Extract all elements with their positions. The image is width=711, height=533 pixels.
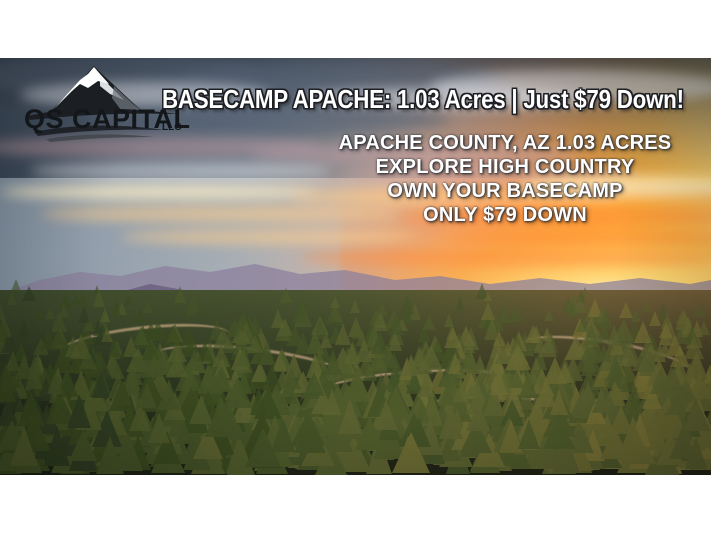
pine-tree	[109, 380, 135, 411]
pine-tree	[458, 349, 480, 373]
pine-tree	[78, 306, 90, 323]
pine-tree	[325, 312, 335, 324]
cloud-streak	[120, 230, 420, 244]
pine-tree	[44, 426, 70, 466]
pine-tree	[100, 307, 110, 322]
pine-tree	[621, 426, 649, 456]
pine-tree	[338, 399, 362, 434]
pine-tree	[148, 321, 168, 341]
pine-tree	[417, 375, 435, 397]
pine-tree	[67, 394, 91, 428]
pine-tree	[79, 294, 87, 305]
sub-headline-line-2: EXPLORE HIGH COUNTRY	[311, 155, 699, 179]
pine-tree	[399, 296, 415, 315]
pine-tree	[650, 367, 672, 394]
pine-tree	[111, 300, 121, 316]
pine-tree	[124, 294, 132, 306]
cloud-streak	[30, 162, 330, 180]
sub-headline-line-4: ONLY $79 DOWN	[311, 203, 699, 227]
sub-headline-line-3: OWN YOUR BASECAMP	[311, 179, 699, 203]
pine-tree	[279, 288, 293, 303]
pine-tree	[544, 310, 554, 321]
pine-tree	[187, 294, 199, 311]
pine-tree	[204, 402, 238, 437]
pine-tree	[69, 430, 97, 461]
pine-tree	[79, 350, 97, 369]
pine-tree	[466, 403, 490, 431]
pine-tree	[291, 410, 325, 446]
pine-tree	[34, 306, 44, 318]
pine-tree	[387, 315, 405, 335]
pine-tree	[335, 323, 351, 345]
pine-tree	[453, 377, 469, 402]
pine-tree	[385, 352, 403, 373]
pine-tree	[174, 286, 186, 303]
pine-tree	[371, 332, 389, 354]
land-listing-ad-banner: QS CAPITAL LLC BASECAMP APACHE: 1.03 Acr…	[0, 0, 711, 533]
pine-tree	[212, 345, 230, 367]
cloud-streak	[0, 184, 320, 200]
pine-tree	[133, 326, 149, 345]
pine-tree	[197, 340, 213, 361]
pine-tree	[234, 348, 252, 373]
pine-tree	[509, 304, 523, 322]
sub-headline-block: APACHE COUNTY, AZ 1.03 ACRES EXPLORE HIG…	[311, 131, 699, 227]
pine-tree	[659, 341, 671, 357]
pine-tree	[10, 426, 38, 466]
pine-tree	[698, 321, 710, 335]
pine-tree	[675, 378, 697, 402]
pine-tree	[392, 432, 430, 473]
pine-tree	[158, 379, 180, 410]
pine-tree	[0, 304, 6, 320]
pine-tree	[113, 433, 143, 471]
sub-headline-line-1: APACHE COUNTY, AZ 1.03 ACRES	[311, 131, 699, 155]
pine-tree	[281, 367, 301, 389]
pine-tree	[490, 369, 508, 395]
headline: BASECAMP APACHE: 1.03 Acres | Just $79 D…	[162, 83, 633, 115]
pine-tree	[350, 299, 360, 313]
pine-tree	[324, 349, 342, 375]
pine-tree	[17, 392, 45, 426]
pine-forest	[0, 290, 711, 475]
pine-tree	[557, 362, 573, 383]
pine-tree	[245, 428, 281, 467]
pine-tree	[59, 304, 69, 317]
pine-tree	[236, 370, 252, 394]
pine-tree	[550, 389, 568, 415]
pine-tree	[484, 293, 492, 301]
pine-tree	[101, 327, 113, 342]
pine-tree	[518, 419, 540, 449]
pine-tree	[599, 309, 613, 329]
pine-tree	[271, 309, 285, 328]
pine-tree	[47, 372, 63, 394]
pine-tree	[641, 301, 651, 312]
pine-tree	[137, 383, 157, 408]
pine-tree	[444, 327, 462, 348]
pine-tree	[0, 363, 17, 392]
pine-tree	[303, 372, 325, 396]
pine-tree	[592, 387, 610, 413]
pine-tree	[456, 296, 464, 310]
pine-tree	[573, 297, 587, 313]
pine-tree	[626, 349, 638, 367]
pine-tree	[145, 354, 163, 377]
pine-tree	[330, 296, 340, 308]
pine-tree	[291, 304, 309, 323]
pine-tree	[18, 318, 30, 337]
pine-tree	[484, 318, 500, 340]
pine-tree	[142, 301, 154, 313]
pine-tree	[11, 279, 21, 291]
cloud-streak	[440, 230, 711, 246]
pine-tree	[7, 291, 17, 305]
pine-tree	[295, 332, 311, 354]
pine-tree	[419, 345, 443, 370]
pine-tree	[614, 319, 634, 341]
pine-tree	[533, 337, 547, 353]
pine-tree	[93, 289, 105, 307]
pine-tree	[166, 354, 188, 377]
pine-tree	[659, 322, 673, 338]
pine-tree	[583, 323, 599, 346]
pine-tree	[22, 286, 36, 301]
logo-suffix-text: LLC	[162, 122, 181, 133]
pine-tree	[692, 303, 706, 317]
pine-tree	[505, 344, 531, 370]
pine-tree	[562, 296, 574, 312]
pine-tree	[669, 425, 697, 459]
pine-tree	[40, 330, 56, 350]
pine-tree	[658, 302, 668, 319]
pine-tree	[422, 315, 436, 330]
pine-tree	[543, 413, 575, 449]
pine-tree	[403, 354, 419, 376]
